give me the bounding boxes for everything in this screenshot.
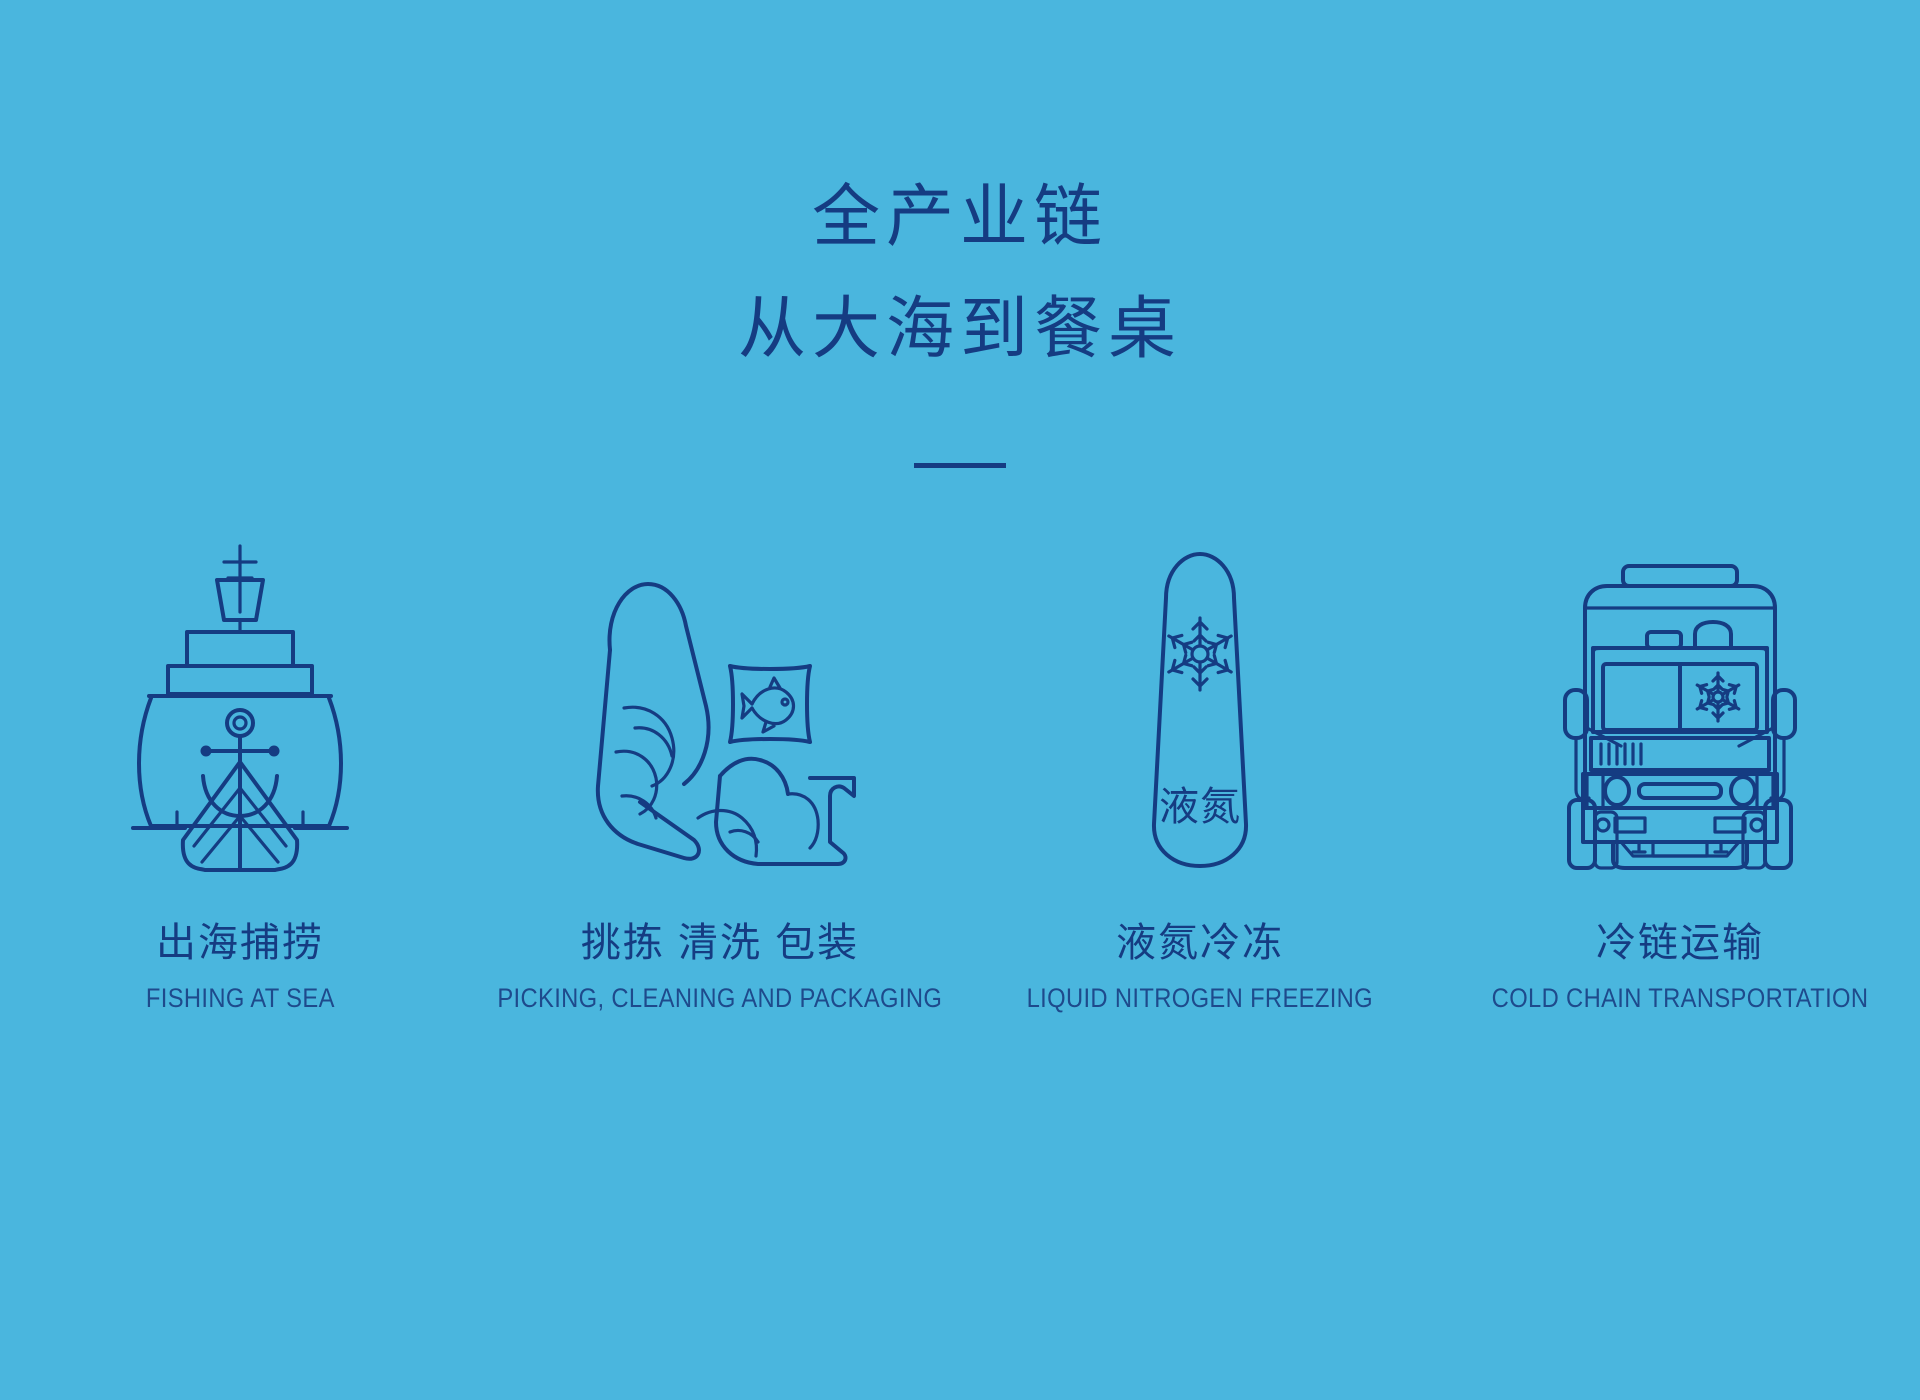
tank-caption: 液氮 — [1159, 785, 1241, 829]
snowflake-icon — [1165, 618, 1234, 690]
hands-with-packaged-fish-icon — [580, 570, 860, 870]
step-picking-cleaning-packaging[interactable]: 挑拣 清洗 包装 PICKING, CLEANING AND PACKAGING — [480, 520, 960, 1015]
step-fishing-at-sea[interactable]: 出海捕捞 FISHING AT SEA — [0, 520, 480, 1015]
step-label-en: PICKING, CLEANING AND PACKAGING — [498, 982, 943, 1015]
title-line-primary: 全产业链 — [0, 168, 1920, 266]
title-line-secondary: 从大海到餐桌 — [0, 280, 1920, 378]
process-steps-row: 出海捕捞 FISHING AT SEA — [0, 520, 1920, 1160]
upper-hand — [598, 584, 709, 859]
step-label-cn: 液氮冷冻 — [1116, 918, 1284, 968]
liquid-nitrogen-tank-icon: 液氮 — [1130, 550, 1270, 870]
step-label-cn: 冷链运输 — [1596, 918, 1764, 968]
step-liquid-nitrogen-freezing[interactable]: 液氮 液氮冷冻 LIQUID NITROGEN FREEZING — [960, 520, 1440, 1015]
fishing-boat-icon — [125, 540, 355, 870]
liquid-nitrogen-tank-icon-wrap: 液氮 — [1130, 520, 1270, 870]
step-label-en: LIQUID NITROGEN FREEZING — [1027, 982, 1373, 1015]
fish-package — [730, 666, 810, 742]
infographic-canvas: 全产业链 从大海到餐桌 — [0, 0, 1920, 1400]
step-label-en: COLD CHAIN TRANSPORTATION — [1492, 982, 1869, 1015]
page-title: 全产业链 从大海到餐桌 — [0, 168, 1920, 378]
hands-with-packaged-fish-icon-wrap — [580, 520, 860, 870]
snowflake-icon — [1695, 673, 1742, 721]
fishing-boat-icon-wrap — [125, 520, 355, 870]
lower-hand — [698, 759, 854, 864]
step-label-en: FISHING AT SEA — [146, 982, 335, 1015]
step-label-cn: 出海捕捞 — [156, 918, 324, 968]
title-divider — [914, 463, 1006, 468]
refrigerated-truck-icon — [1555, 560, 1805, 870]
step-cold-chain-transportation[interactable]: 冷链运输 COLD CHAIN TRANSPORTATION — [1440, 520, 1920, 1015]
step-label-cn: 挑拣 清洗 包装 — [581, 918, 859, 968]
title-divider-wrap — [0, 455, 1920, 473]
refrigerated-truck-icon-wrap — [1555, 520, 1805, 870]
